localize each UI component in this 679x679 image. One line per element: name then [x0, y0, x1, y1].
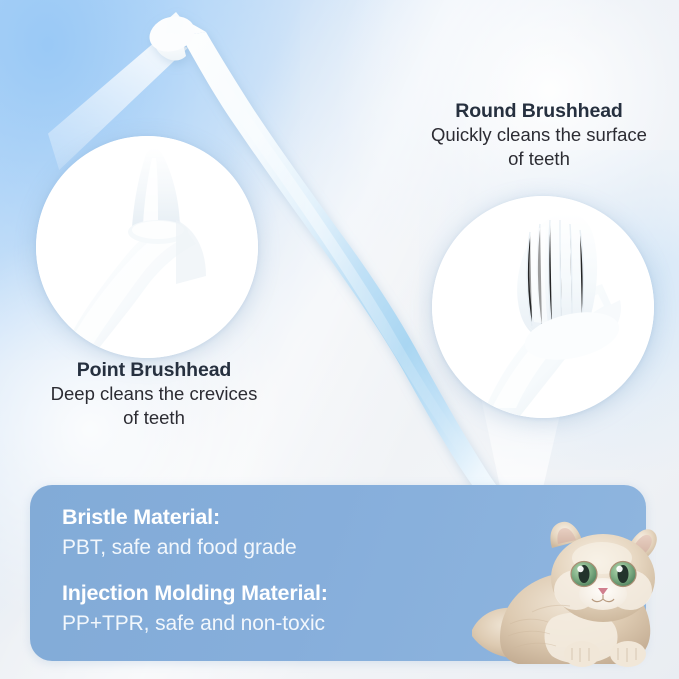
bristle-material-detail: PBT, safe and food grade: [62, 533, 482, 563]
callout-title-round: Round Brushhead: [413, 99, 665, 123]
point-brushhead-closeup: [36, 136, 258, 358]
magnifier-circle-point-brushhead: [36, 136, 258, 358]
round-brushhead-closeup: [432, 196, 654, 418]
cat-illustration: [470, 518, 679, 673]
callout-body-round-line1: Quickly cleans the surface: [413, 123, 665, 147]
injection-material-heading: Injection Molding Material:: [62, 578, 482, 609]
callout-title-point: Point Brushhead: [14, 358, 294, 382]
material-info-content: Bristle Material: PBT, safe and food gra…: [62, 502, 482, 639]
material-row-injection: Injection Molding Material: PP+TPR, safe…: [62, 578, 482, 638]
material-row-bristle: Bristle Material: PBT, safe and food gra…: [62, 502, 482, 562]
callout-round-brushhead: Round Brushhead Quickly cleans the surfa…: [413, 99, 665, 171]
injection-material-detail: PP+TPR, safe and non-toxic: [62, 609, 482, 639]
product-infographic: Round Brushhead Quickly cleans the surfa…: [0, 0, 679, 679]
callout-body-point-line1: Deep cleans the crevices: [14, 382, 294, 406]
callout-body-round-line2: of teeth: [413, 147, 665, 171]
bristle-material-heading: Bristle Material:: [62, 502, 482, 533]
magnifier-circle-round-brushhead: [432, 196, 654, 418]
cat-photo: [470, 518, 679, 673]
callout-point-brushhead: Point Brushhead Deep cleans the crevices…: [14, 358, 294, 430]
callout-body-point-line2: of teeth: [14, 406, 294, 430]
